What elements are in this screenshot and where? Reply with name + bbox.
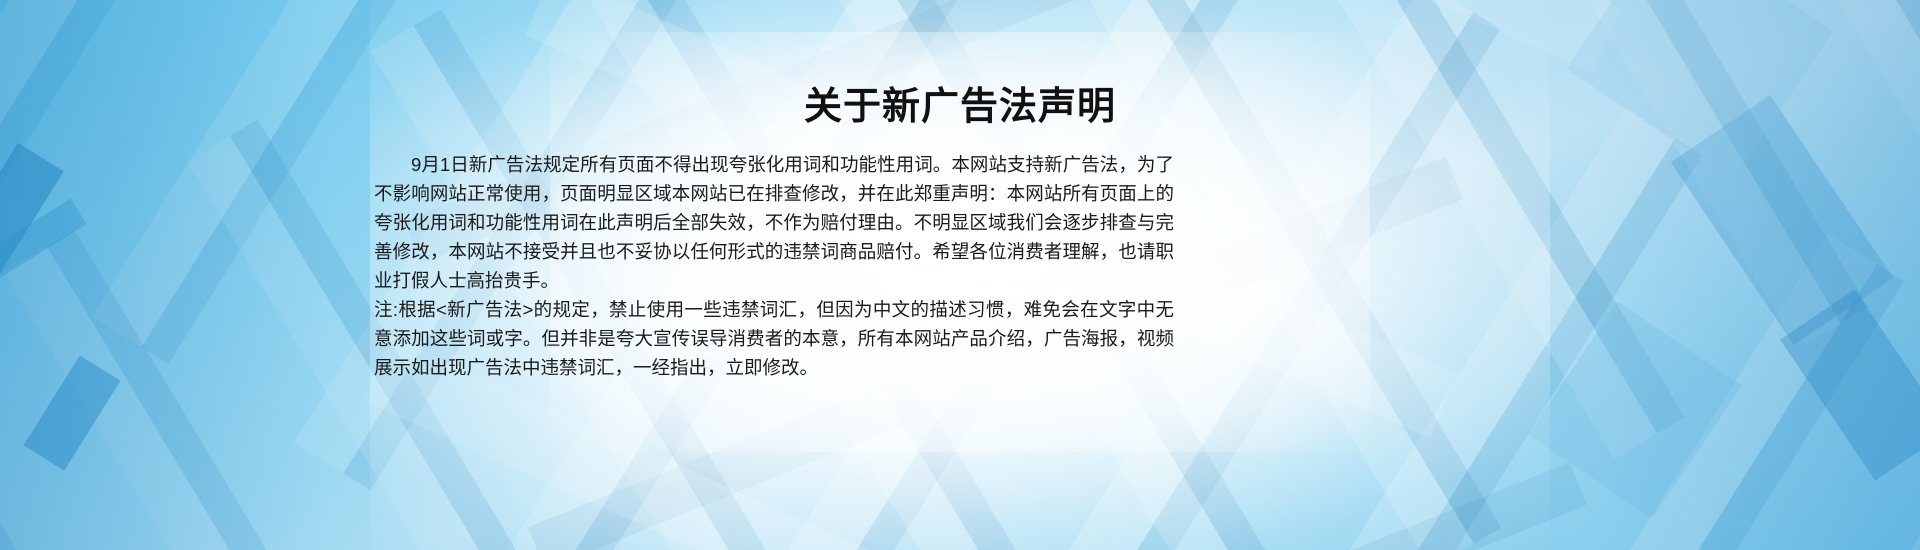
statement-body: 9月1日新广告法规定所有页面不得出现夸张化用词和功能性用词。本网站支持新广告法，… xyxy=(374,150,1174,382)
statement-content: 关于新广告法声明 9月1日新广告法规定所有页面不得出现夸张化用词和功能性用词。本… xyxy=(0,0,1920,550)
statement-paragraph-note: 注:根据<新广告法>的规定，禁止使用一些违禁词汇，但因为中文的描述习惯，难免会在… xyxy=(374,295,1174,382)
advertising-law-statement-banner: 关于新广告法声明 9月1日新广告法规定所有页面不得出现夸张化用词和功能性用词。本… xyxy=(0,0,1920,550)
page-title: 关于新广告法声明 xyxy=(0,86,1920,130)
statement-paragraph-main: 9月1日新广告法规定所有页面不得出现夸张化用词和功能性用词。本网站支持新广告法，… xyxy=(374,150,1174,295)
